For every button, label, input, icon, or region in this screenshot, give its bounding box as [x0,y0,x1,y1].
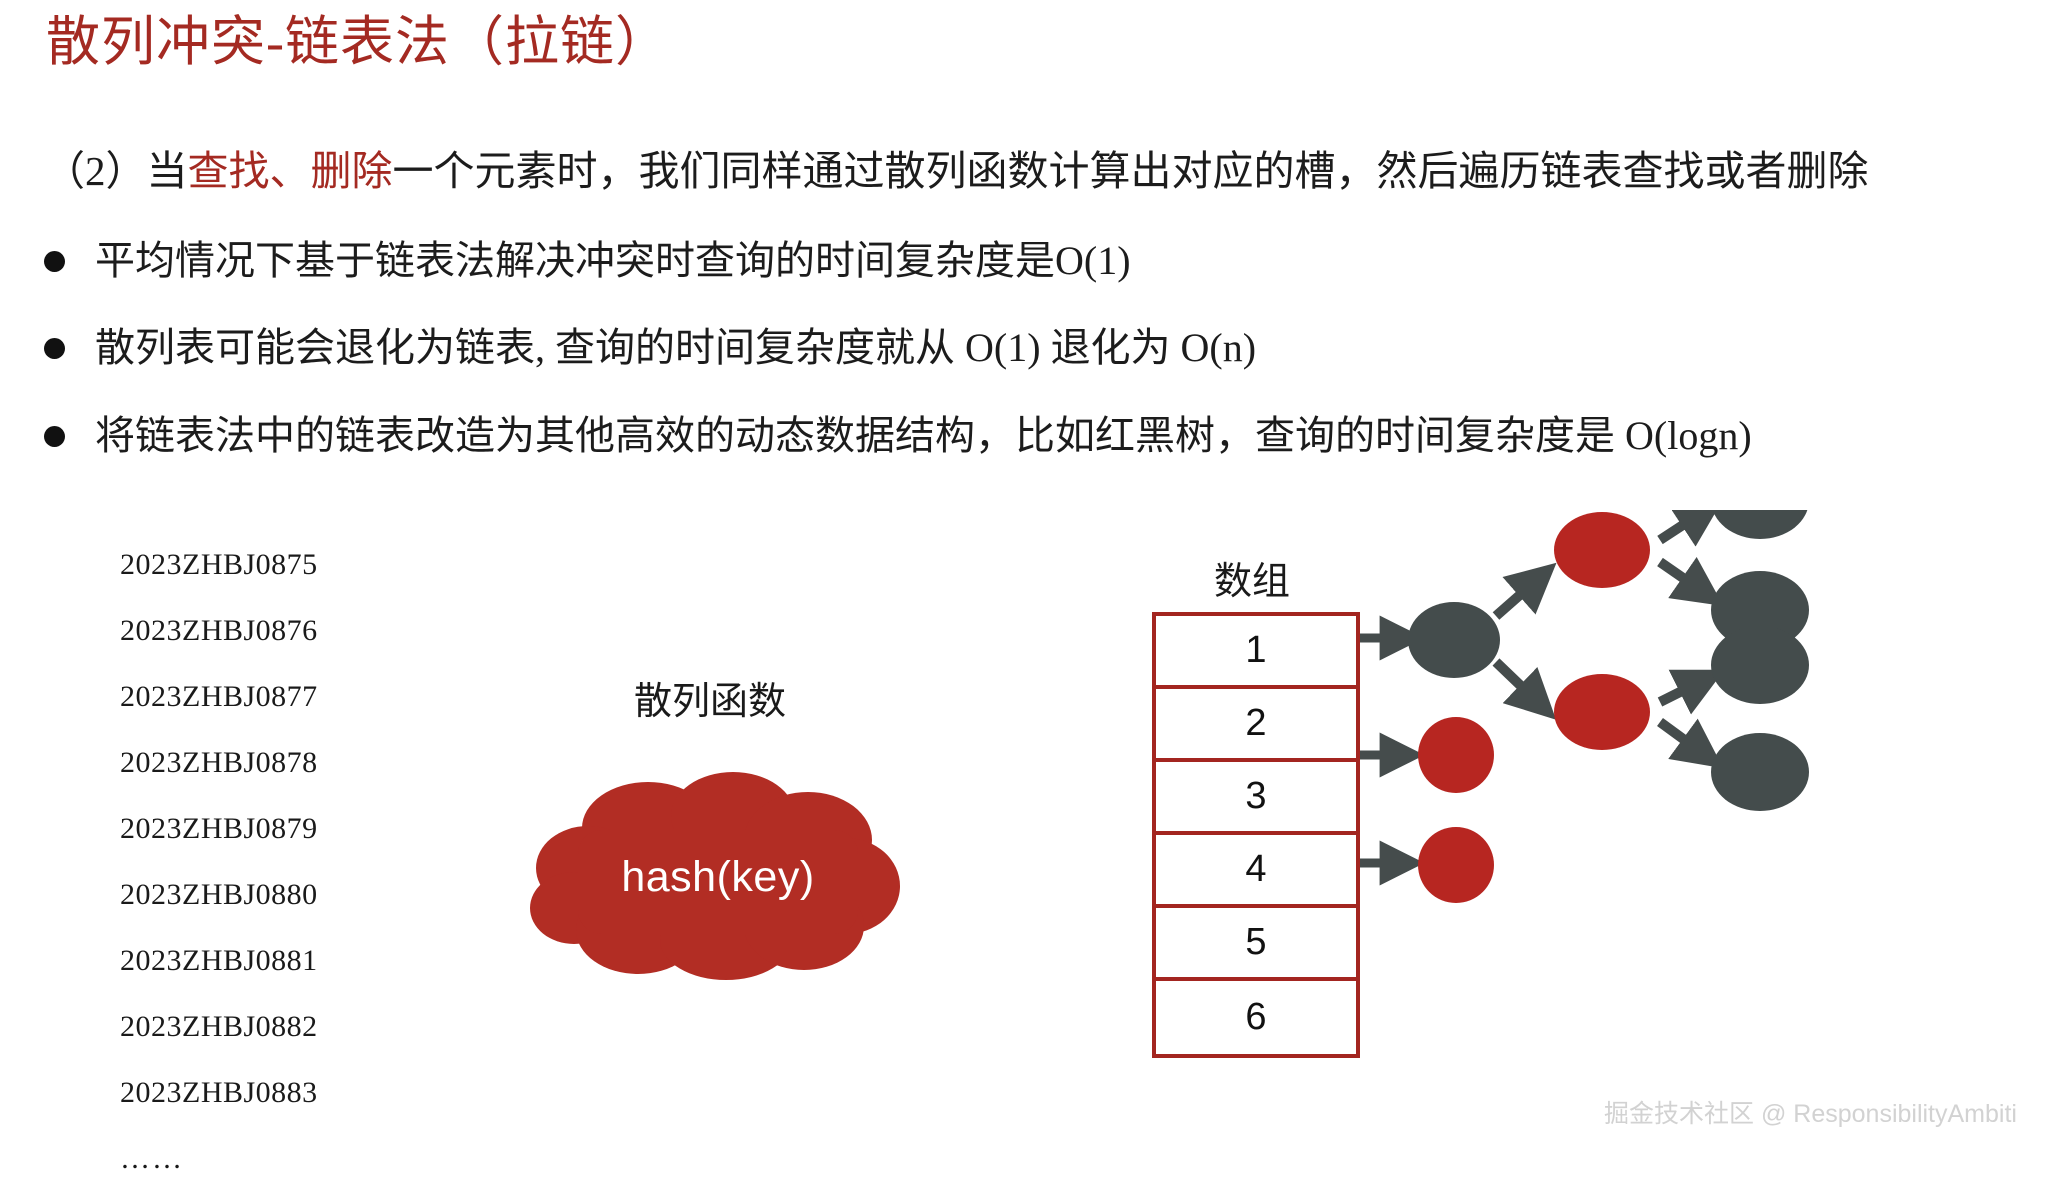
tree-node-red-top [1554,512,1650,588]
array-cell[interactable]: 2 [1156,689,1356,762]
key-list-ellipsis: …… [120,1126,318,1192]
hash-function-label: 散列函数 [634,670,786,725]
key-list-item: 2023ZHBJ0877 [120,664,318,730]
key-list: 2023ZHBJ0875 2023ZHBJ0876 2023ZHBJ0877 2… [120,532,318,1192]
bullet-item-2: 散列表可能会退化为链表, 查询的时间复杂度就从 O(1) 退化为 O(n) [44,323,1256,373]
edge-redbottom-to-leaf4 [1660,722,1712,760]
key-list-item: 2023ZHBJ0878 [120,730,318,796]
red-black-tree-graph [1360,510,2068,1090]
chain-node-slot4 [1418,717,1494,793]
key-list-item: 2023ZHBJ0879 [120,796,318,862]
edge-redtop-to-leaf1 [1660,510,1712,540]
edge-redbottom-to-leaf3 [1660,676,1712,702]
tree-leaf-4 [1711,733,1809,811]
intro-prefix: （2）当 [44,148,188,194]
bullet-dot-icon [44,426,65,447]
array-label: 数组 [1214,550,1290,605]
edge-root-to-red-bottom [1496,662,1546,710]
intro-highlight: 查找、删除 [188,148,393,194]
bullet-item-3: 将链表法中的链表改造为其他高效的动态数据结构，比如红黑树，查询的时间复杂度是 O… [44,411,1752,461]
edge-root-to-red-top [1496,572,1546,616]
array-cell[interactable]: 1 [1156,616,1356,689]
array-cell[interactable]: 4 [1156,835,1356,908]
page-title: 散列冲突-链表法（拉链） [46,10,670,75]
key-list-item: 2023ZHBJ0881 [120,928,318,994]
bullet-text: 散列表可能会退化为链表, 查询的时间复杂度就从 O(1) 退化为 O(n) [95,323,1256,373]
intro-paragraph: （2）当查找、删除一个元素时，我们同样通过散列函数计算出对应的槽，然后遍历链表查… [44,146,1869,197]
chain-node-slot6 [1418,827,1494,903]
hash-function-cloud: hash(key) [528,768,908,980]
bullet-item-1: 平均情况下基于链表法解决冲突时查询的时间复杂度是O(1) [44,236,1131,286]
bullet-text: 将链表法中的链表改造为其他高效的动态数据结构，比如红黑树，查询的时间复杂度是 O… [95,411,1752,461]
tree-leaf-3 [1711,626,1809,704]
key-list-item: 2023ZHBJ0875 [120,532,318,598]
hash-function-expression: hash(key) [528,768,908,980]
edge-redtop-to-leaf2 [1660,562,1712,598]
intro-suffix: 一个元素时，我们同样通过散列函数计算出对应的槽，然后遍历链表查找或者删除 [393,148,1869,194]
watermark: 掘金技术社区 @ ResponsibilityAmbiti [1604,1094,2017,1130]
bullet-dot-icon [44,338,65,359]
tree-leaf-1 [1711,510,1809,539]
key-list-item: 2023ZHBJ0876 [120,598,318,664]
bullet-text: 平均情况下基于链表法解决冲突时查询的时间复杂度是O(1) [95,236,1131,286]
tree-node-red-bottom [1554,674,1650,750]
array-cell[interactable]: 6 [1156,981,1356,1054]
array-table: 1 2 3 4 5 6 [1152,612,1360,1058]
array-cell[interactable]: 5 [1156,908,1356,981]
key-list-item: 2023ZHBJ0880 [120,862,318,928]
tree-node-root [1408,602,1500,678]
key-list-item: 2023ZHBJ0882 [120,994,318,1060]
key-list-item: 2023ZHBJ0883 [120,1060,318,1126]
bullet-dot-icon [44,251,65,272]
array-cell[interactable]: 3 [1156,762,1356,835]
